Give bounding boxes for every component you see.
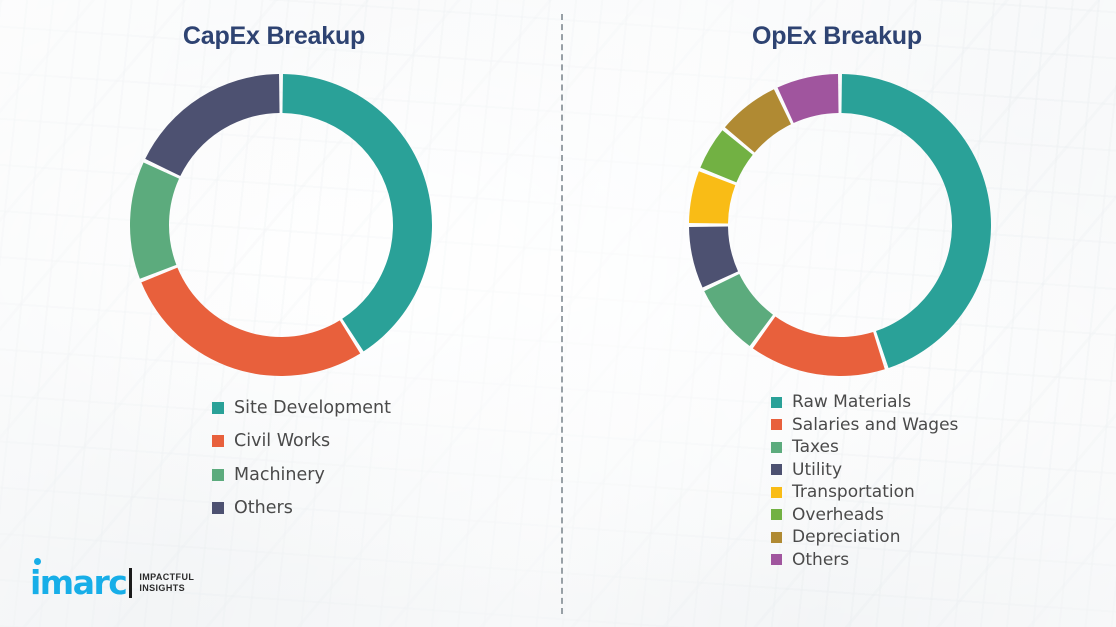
legend-swatch-icon bbox=[771, 487, 782, 498]
capex-donut-svg bbox=[130, 74, 432, 376]
donut-slice bbox=[841, 74, 991, 368]
donut-slice bbox=[141, 268, 360, 376]
legend-label: Civil Works bbox=[234, 431, 330, 451]
legend-label: Site Development bbox=[234, 398, 391, 418]
legend-item: Site Development bbox=[212, 391, 391, 425]
capex-chart-title: CapEx Breakup bbox=[0, 22, 553, 51]
legend-swatch-icon bbox=[771, 509, 782, 520]
legend-swatch-icon bbox=[771, 464, 782, 475]
legend-label: Others bbox=[234, 498, 293, 518]
legend-label: Utility bbox=[792, 460, 842, 480]
legend-item: Taxes bbox=[771, 436, 958, 459]
opex-legend: Raw MaterialsSalaries and WagesTaxesUtil… bbox=[771, 391, 958, 571]
donut-slice bbox=[145, 74, 279, 176]
legend-swatch-icon bbox=[771, 554, 782, 565]
legend-swatch-icon bbox=[212, 469, 224, 481]
legend-item: Salaries and Wages bbox=[771, 414, 958, 437]
legend-swatch-icon bbox=[771, 442, 782, 453]
logo-tagline: IMPACTFUL INSIGHTS bbox=[139, 572, 194, 594]
imarc-logo: imarc IMPACTFUL INSIGHTS bbox=[30, 566, 194, 600]
opex-panel: OpEx Breakup Raw MaterialsSalaries and W… bbox=[558, 0, 1116, 627]
legend-label: Overheads bbox=[792, 505, 884, 525]
donut-slice bbox=[753, 316, 885, 376]
legend-label: Others bbox=[792, 550, 849, 570]
legend-label: Raw Materials bbox=[792, 392, 911, 412]
legend-label: Salaries and Wages bbox=[792, 415, 958, 435]
legend-label: Transportation bbox=[792, 482, 915, 502]
opex-donut-chart bbox=[689, 74, 991, 376]
legend-label: Depreciation bbox=[792, 527, 900, 547]
opex-donut-svg bbox=[689, 74, 991, 376]
donut-slice bbox=[282, 74, 432, 351]
legend-item: Raw Materials bbox=[771, 391, 958, 414]
legend-swatch-icon bbox=[212, 502, 224, 514]
legend-item: Transportation bbox=[771, 481, 958, 504]
legend-item: Overheads bbox=[771, 504, 958, 527]
legend-swatch-icon bbox=[771, 397, 782, 408]
legend-item: Others bbox=[212, 492, 391, 526]
legend-swatch-icon bbox=[212, 435, 224, 447]
logo-mark: imarc bbox=[30, 566, 126, 600]
legend-label: Taxes bbox=[792, 437, 839, 457]
logo-tagline-line1: IMPACTFUL bbox=[139, 572, 194, 583]
capex-panel: CapEx Breakup Site DevelopmentCivil Work… bbox=[0, 0, 558, 627]
logo-dot-icon bbox=[34, 558, 41, 565]
logo-wordmark: imarc bbox=[30, 566, 126, 600]
logo-tagline-line2: INSIGHTS bbox=[139, 583, 194, 594]
legend-item: Others bbox=[771, 549, 958, 572]
legend-item: Depreciation bbox=[771, 526, 958, 549]
opex-chart-title: OpEx Breakup bbox=[558, 22, 1116, 51]
legend-swatch-icon bbox=[771, 532, 782, 543]
capex-donut-chart bbox=[130, 74, 432, 376]
panel-divider bbox=[561, 14, 563, 614]
legend-item: Civil Works bbox=[212, 425, 391, 459]
logo-divider bbox=[129, 568, 132, 598]
legend-label: Machinery bbox=[234, 465, 325, 485]
legend-item: Machinery bbox=[212, 458, 391, 492]
capex-legend: Site DevelopmentCivil WorksMachineryOthe… bbox=[212, 391, 391, 525]
donut-slice bbox=[130, 163, 179, 279]
legend-swatch-icon bbox=[771, 419, 782, 430]
legend-swatch-icon bbox=[212, 402, 224, 414]
legend-item: Utility bbox=[771, 459, 958, 482]
